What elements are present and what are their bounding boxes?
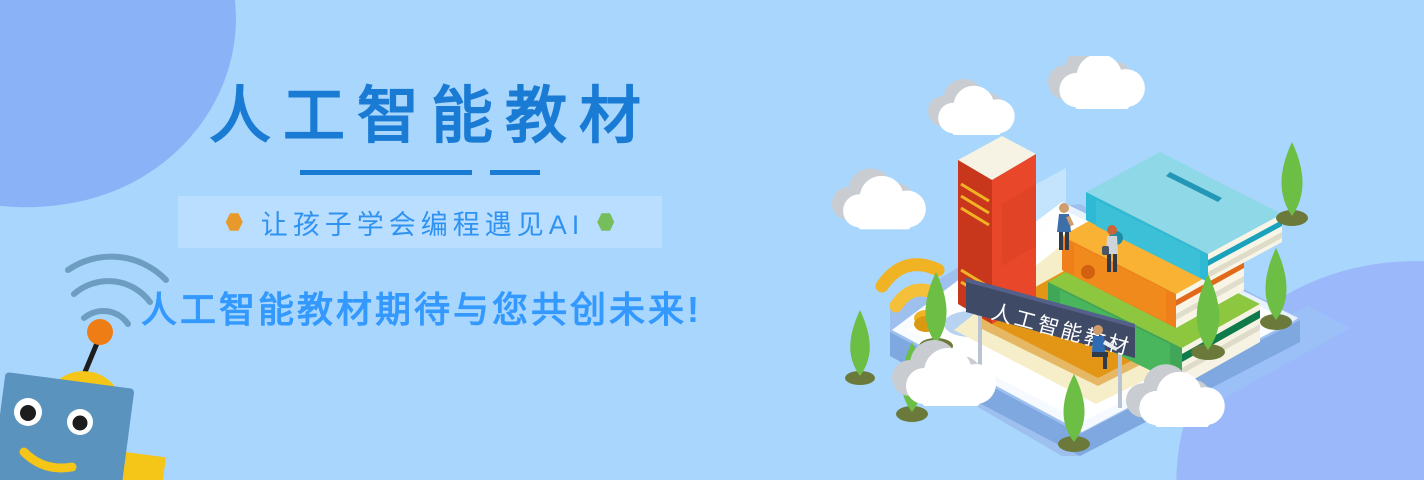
banner-tagline: 人工智能教材期待与您共创未来! [0,281,840,333]
divider-short-segment [490,170,540,175]
hexagon-green-icon [597,213,614,232]
banner-text-block: 人工智能教材 让孩子学会编程遇见AI 人工智能教材期待与您共创未来! [0,86,840,333]
cloud-top-mid [1048,56,1145,109]
orange-book-dot [1081,265,1095,279]
promo-banner: 人工智能教材 让孩子学会编程遇见AI 人工智能教材期待与您共创未来! [0,0,1424,480]
cloud-left [832,168,926,229]
robot-eye-left [14,398,42,426]
person-bag [1102,246,1109,255]
divider-long-segment [300,170,472,175]
robot-eye-right [67,409,93,435]
hexagon-orange-icon [226,213,243,232]
title-divider [0,170,840,175]
banner-title: 人工智能教材 [10,86,840,148]
banner-subtitle-box: 让孩子学会编程遇见AI [178,196,662,248]
isometric-education-illustration: 人工智能教材 [830,56,1424,480]
banner-subtitle: 让孩子学会编程遇见AI [256,203,585,242]
cloud-top-left [928,79,1015,135]
